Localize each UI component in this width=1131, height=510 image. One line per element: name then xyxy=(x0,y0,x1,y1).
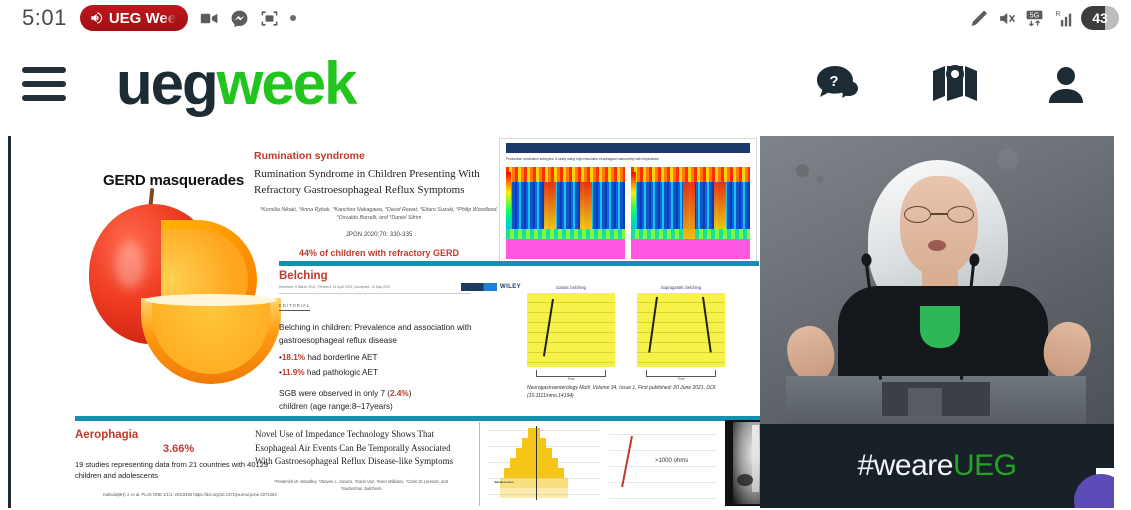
messenger-icon xyxy=(230,9,249,28)
tracing-supragastric: Supragastric belching Time xyxy=(637,285,725,381)
tracing-citation: Neurogastroenterology Motil. Volume 34, … xyxy=(527,385,737,400)
weare-ueg-hashtag: #weareUEG xyxy=(858,449,1017,483)
status-bar: 5:01 UEG Wee 5G R xyxy=(0,0,1131,36)
belching-meta: Received: 9 March 2021 | Revised: 14 Apr… xyxy=(279,285,471,294)
pressure-band xyxy=(506,229,625,238)
menu-bar xyxy=(22,95,66,101)
color-scale xyxy=(631,172,636,253)
rumination-stat: 44% of children with refractory GERD xyxy=(254,248,504,258)
wiley-text: WILEY xyxy=(500,284,521,290)
logo-text-ueg: ueg xyxy=(116,50,217,117)
apple-highlight xyxy=(115,242,145,288)
battery-indicator: 43 xyxy=(1081,6,1119,30)
manometry-title: Productive rumination subtypes: A study … xyxy=(506,157,750,163)
orange-half xyxy=(141,298,281,384)
svg-text:R: R xyxy=(1055,10,1060,18)
manometry-figure-panel: Productive rumination subtypes: A study … xyxy=(499,138,757,266)
belching-bullet-value: 11.9% xyxy=(282,368,305,377)
tracing-caption-right: Supragastric belching xyxy=(637,285,725,290)
tracing-row: Gastric belching Time Supragastric belch… xyxy=(527,285,755,381)
hrm-heatmap-right xyxy=(631,167,750,259)
hrm-heatmap-left xyxy=(506,167,625,259)
rumination-block: Rumination syndrome Rumination Syndrome … xyxy=(254,150,504,258)
section-divider xyxy=(75,416,760,421)
wiley-mark xyxy=(461,283,497,291)
gridline xyxy=(609,498,717,499)
rumination-citation: JPGN 2020;70: 330-335 xyxy=(254,231,504,238)
tracing-gastric: Gastric belching Time xyxy=(527,285,615,381)
belching-bullet-text: had borderline AET xyxy=(305,353,377,362)
swallow-event xyxy=(544,182,556,229)
chart-bar xyxy=(504,468,564,478)
gridline xyxy=(609,450,717,451)
recording-label: UEG Wee xyxy=(109,10,176,27)
gridline xyxy=(609,434,717,435)
impedance-study-title: Novel Use of Impedance Technology Shows … xyxy=(255,428,467,469)
editorial-label: EDITORIAL xyxy=(279,303,310,311)
swallow-event xyxy=(580,182,592,229)
belching-heading: Belching xyxy=(279,270,759,282)
menu-bar xyxy=(22,67,66,73)
status-dot-indicator xyxy=(290,15,296,21)
speaker-mouth xyxy=(928,240,946,251)
tracing-plot-left xyxy=(527,293,615,367)
manometry-plots xyxy=(506,167,750,259)
aerophagia-block: Aerophagia 3.66% 19 studies representing… xyxy=(75,416,760,498)
impedance-study-authors: *Frederick W. Woodley, *Steven L. Cicior… xyxy=(271,478,451,492)
chart-bar xyxy=(528,428,540,438)
logo-text-week: week xyxy=(217,50,356,117)
status-time: 5:01 xyxy=(22,5,67,31)
help-chat-icon[interactable]: ? xyxy=(815,64,865,104)
speaker-video-panel[interactable]: #weareUEG xyxy=(760,136,1114,508)
gridline xyxy=(488,430,601,431)
glasses-icon xyxy=(904,206,974,223)
sgb-value: 2.4% xyxy=(390,389,409,398)
journal-banner xyxy=(506,143,750,153)
speaker-face xyxy=(900,176,978,276)
green-lanyard xyxy=(920,288,960,348)
aerophagia-percent: 3.66% xyxy=(163,443,194,455)
podium xyxy=(786,376,1086,424)
xray-spine xyxy=(752,425,759,492)
stylus-icon xyxy=(969,9,988,28)
time-label: Time xyxy=(637,377,725,381)
sgb-post: ) xyxy=(409,389,412,398)
tracing-arrow xyxy=(702,297,711,353)
belching-bullet-text: had pathologic AET xyxy=(305,368,378,377)
ohm-label: >1000 ohms xyxy=(655,458,688,464)
section-divider xyxy=(279,261,759,266)
chart-bar xyxy=(516,448,552,458)
impedance-bar-chart: distal swallow impedance xyxy=(479,422,601,506)
video-frame xyxy=(760,136,1114,424)
chart-bar xyxy=(510,458,558,468)
rumination-authors: *Kornilia Nikaki, *Anna Rybak, *Kanchiro… xyxy=(254,206,504,223)
orange-rind xyxy=(145,294,277,306)
ohm-scatter-panel: >1000 ohms xyxy=(609,422,717,506)
tracing-plot-right xyxy=(637,293,725,367)
sgb-line2: children (age range:8–17years) xyxy=(279,402,393,411)
chart-bar xyxy=(500,488,568,498)
tracing-arrow xyxy=(649,297,658,353)
chart-annotation: distal swallow impedance xyxy=(494,480,514,484)
gridline xyxy=(609,482,717,483)
menu-bar xyxy=(22,81,66,87)
speaker-icon xyxy=(89,11,103,25)
network-5g-icon: 5G xyxy=(1025,9,1044,28)
status-notification-icons xyxy=(200,9,296,28)
svg-text:?: ? xyxy=(829,73,838,90)
map-pin-icon[interactable] xyxy=(931,63,979,105)
belching-body: Belching in children: Prevalence and ass… xyxy=(279,322,484,347)
time-bracket xyxy=(646,370,716,377)
tracing-caption-left: Gastric belching xyxy=(527,285,615,290)
video-footer-banner: #weareUEG xyxy=(760,424,1114,508)
hashtag-weare: #weare xyxy=(858,449,953,482)
presentation-slide[interactable]: GERD masquerades Rumination syndrome Rum… xyxy=(8,136,760,508)
content-stage: GERD masquerades Rumination syndrome Rum… xyxy=(0,132,1131,510)
ueg-week-logo[interactable]: uegweek xyxy=(116,54,355,114)
svg-text:5G: 5G xyxy=(1030,11,1039,19)
time-label: Time xyxy=(527,377,615,381)
screenshot-icon xyxy=(260,9,279,28)
signal-roaming-icon: R xyxy=(1053,9,1072,28)
time-bracket xyxy=(536,370,606,377)
status-right-icons: 5G R 43 xyxy=(969,6,1119,30)
belching-block: Belching Received: 9 March 2021 | Revise… xyxy=(279,261,759,413)
chart-bar xyxy=(522,438,546,448)
xray-image-1 xyxy=(725,420,760,506)
color-scale xyxy=(506,172,511,253)
swallow-event xyxy=(714,182,726,229)
podium-monitor xyxy=(882,382,990,416)
hashtag-ueg: UEG xyxy=(953,449,1017,482)
mute-icon xyxy=(997,9,1016,28)
rumination-title: Rumination Syndrome in Children Presenti… xyxy=(254,167,504,199)
rumination-heading: Rumination syndrome xyxy=(254,150,504,162)
swallow-event xyxy=(683,182,695,249)
recording-pill[interactable]: UEG Wee xyxy=(80,5,188,31)
belching-tracings: Gastric belching Time Supragastric belch… xyxy=(527,285,755,400)
header-action-icons: ? xyxy=(815,63,1103,105)
median-line xyxy=(536,426,537,500)
wiley-logo: WILEY xyxy=(461,283,521,291)
hamburger-menu-icon[interactable] xyxy=(22,67,66,101)
app-header: uegweek ? xyxy=(0,36,1131,132)
user-profile-icon[interactable] xyxy=(1045,63,1087,105)
impedance-drop-arrow xyxy=(621,436,632,487)
belching-bullet-value: 18.1% xyxy=(282,353,305,362)
tracing-arrow xyxy=(543,299,554,357)
xray-gas-pocket xyxy=(737,474,753,486)
battery-level: 43 xyxy=(1092,10,1108,26)
sgb-pre: SGB were observed in only 7 ( xyxy=(279,389,390,398)
outlook-video-icon xyxy=(200,9,219,28)
